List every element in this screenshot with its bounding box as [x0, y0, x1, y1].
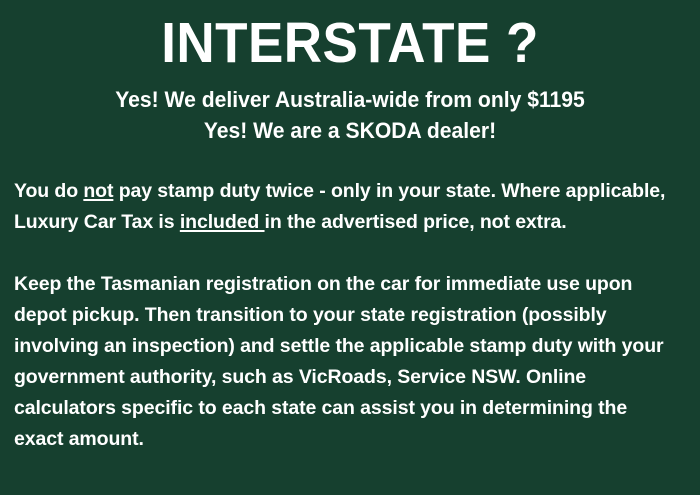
paragraph-stamp-duty-seg1: You do: [14, 180, 83, 202]
paragraph-stamp-duty: You do not pay stamp duty twice - only i…: [14, 176, 680, 238]
interstate-info-banner: INTERSTATE ? Yes! We deliver Australia-w…: [0, 0, 700, 495]
body-copy: You do not pay stamp duty twice - only i…: [0, 176, 700, 455]
emphasis-included: included: [180, 211, 265, 233]
emphasis-not: not: [83, 180, 113, 202]
paragraph-stamp-duty-seg3: in the advertised price, not extra.: [265, 211, 567, 233]
headline-block: INTERSTATE ? Yes! We deliver Australia-w…: [0, 0, 700, 146]
subhead-dealer: Yes! We are a SKODA dealer!: [14, 115, 686, 146]
paragraph-registration: Keep the Tasmanian registration on the c…: [14, 269, 680, 455]
page-title: INTERSTATE ?: [25, 12, 676, 74]
subhead-delivery: Yes! We deliver Australia-wide from only…: [14, 84, 686, 115]
